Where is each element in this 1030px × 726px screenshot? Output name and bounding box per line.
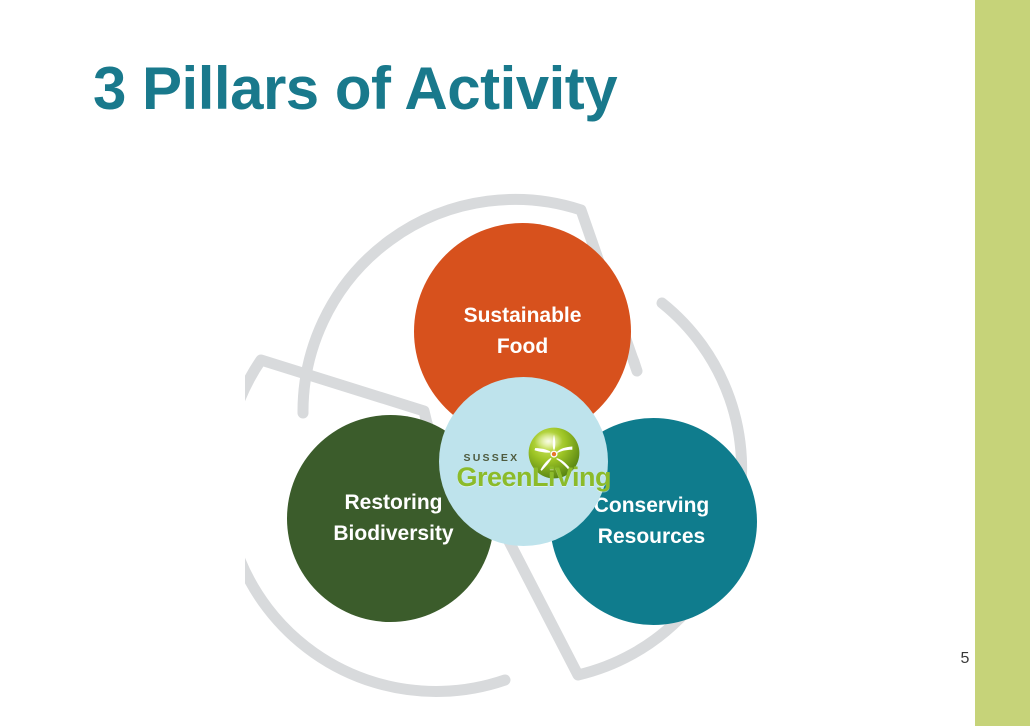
right-accent-bar (975, 0, 1030, 726)
page-number: 5 (955, 650, 975, 668)
three-pillars-diagram: Sustainable Food Restoring Biodiversity … (245, 175, 785, 715)
pillar-label-conserving-resources: Conserving Resources (594, 491, 710, 552)
slide-canvas: 3 Pillars of Activity Sustainable Food R… (0, 0, 1030, 726)
pillar-label-restoring-biodiversity: Restoring Biodiversity (333, 488, 453, 549)
page-title: 3 Pillars of Activity (93, 57, 617, 122)
logo-greenliving-text: GreenLiVing (457, 462, 612, 493)
pillar-label-line1: Sustainable (464, 301, 582, 331)
sussex-green-living-logo: SUSSEX GreenLiVing (449, 426, 599, 498)
pillar-label-sustainable-food: Sustainable Food (464, 301, 582, 362)
pillar-label-line1: Restoring (333, 488, 453, 518)
pillar-label-line1: Conserving (594, 491, 710, 521)
pillar-label-line2: Resources (594, 522, 710, 552)
center-logo-disc: SUSSEX GreenLiVing (439, 377, 608, 546)
pillar-label-line2: Food (464, 332, 582, 362)
pillar-label-line2: Biodiversity (333, 519, 453, 549)
